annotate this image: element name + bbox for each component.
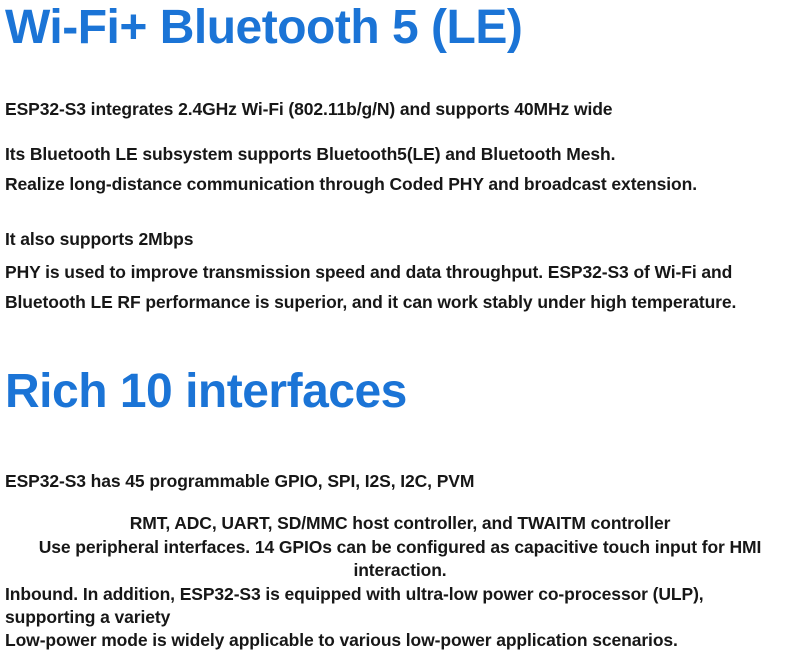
paragraph-bluetooth-subsystem: Its Bluetooth LE subsystem supports Blue… bbox=[5, 143, 615, 166]
paragraph-peripheral-touch: Use peripheral interfaces. 14 GPIOs can … bbox=[0, 536, 800, 582]
paragraph-phy-throughput: PHY is used to improve transmission spee… bbox=[5, 261, 732, 284]
section-heading-wifi-bluetooth: Wi-Fi+ Bluetooth 5 (LE) bbox=[5, 4, 522, 52]
section-heading-rich-interfaces: Rich 10 interfaces bbox=[5, 368, 407, 416]
document-page: Wi-Fi+ Bluetooth 5 (LE) ESP32-S3 integra… bbox=[0, 0, 800, 659]
paragraph-low-power-mode: Low-power mode is widely applicable to v… bbox=[5, 629, 678, 652]
paragraph-controllers: RMT, ADC, UART, SD/MMC host controller, … bbox=[0, 512, 800, 535]
paragraph-coded-phy: Realize long-distance communication thro… bbox=[5, 173, 795, 196]
paragraph-wifi-integration: ESP32-S3 integrates 2.4GHz Wi-Fi (802.11… bbox=[5, 98, 612, 121]
paragraph-2mbps: It also supports 2Mbps bbox=[5, 228, 193, 251]
paragraph-gpio-list: ESP32-S3 has 45 programmable GPIO, SPI, … bbox=[5, 470, 474, 493]
paragraph-ulp-coprocessor: Inbound. In addition, ESP32-S3 is equipp… bbox=[5, 583, 705, 629]
paragraph-rf-performance: Bluetooth LE RF performance is superior,… bbox=[5, 291, 736, 314]
